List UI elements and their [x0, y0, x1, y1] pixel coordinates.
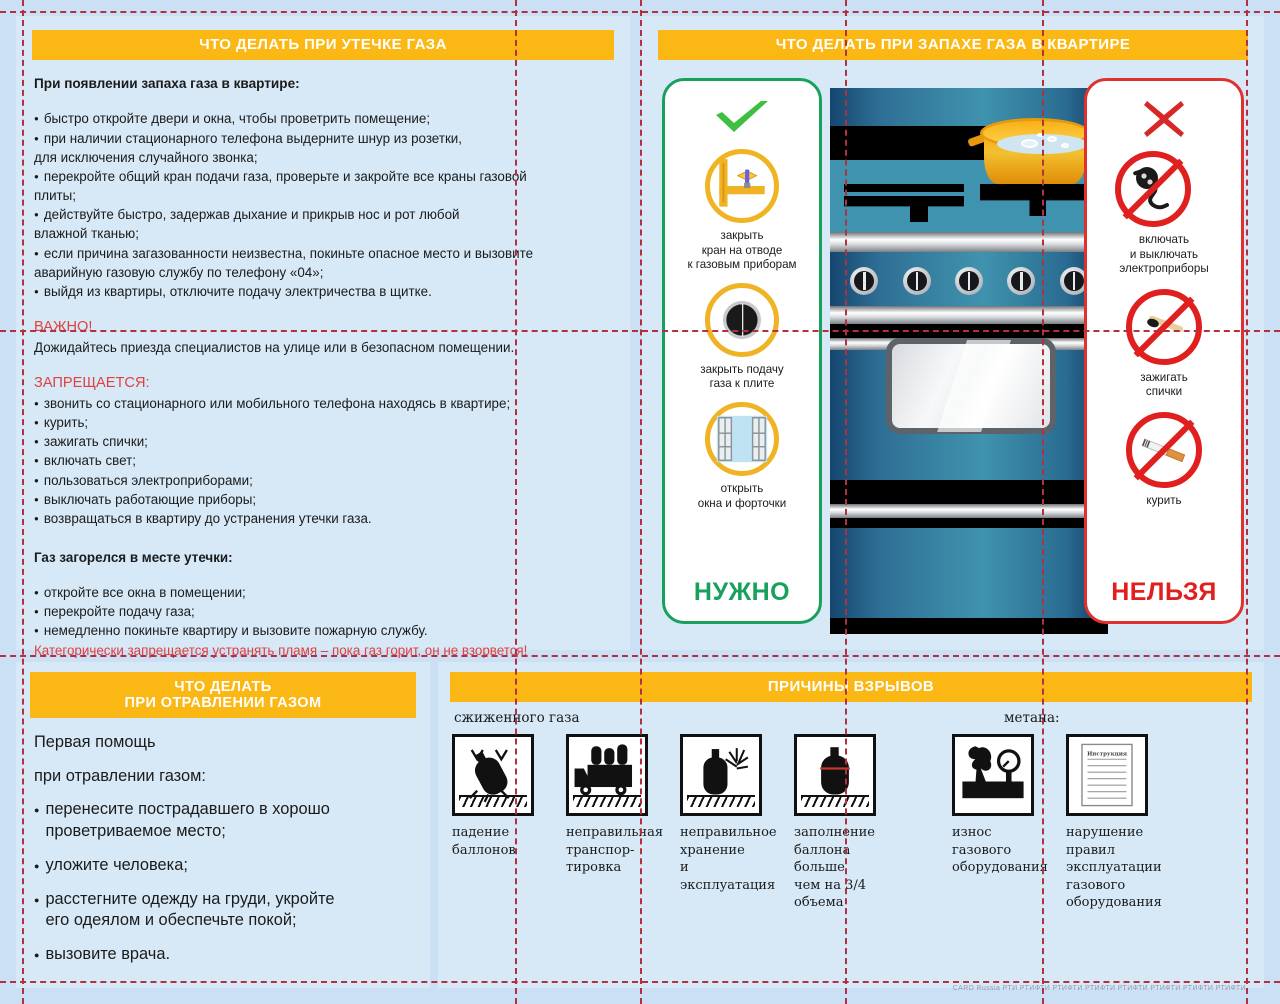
fire-item: откройте все окна в помещении;	[34, 583, 612, 602]
ground-hatch-icon	[573, 795, 641, 807]
stove-knob-row[interactable]	[830, 258, 1108, 304]
leak-step-cont: аварийную газовую службу по телефону «04…	[34, 263, 612, 282]
important-text: Дожидайтесь приезда специалистов на улиц…	[34, 338, 612, 357]
boiling-pot-icon	[976, 110, 1094, 186]
poison-item: ● вызовите врача.	[34, 944, 414, 966]
overfilled-cylinder-icon	[794, 734, 876, 816]
pot-rim	[980, 118, 1090, 148]
cause-list: падение баллонов	[452, 734, 1160, 912]
bullet-icon: ●	[34, 889, 39, 932]
cause-item: Инструкция нарушение правил эксплуатации…	[1066, 734, 1160, 912]
bubble-icon	[1047, 136, 1057, 142]
cause-item: износ газового оборудования	[952, 734, 1046, 912]
ground-hatch-icon	[801, 795, 869, 807]
falling-cylinder-icon	[452, 734, 534, 816]
svg-text:Инструкция: Инструкция	[1087, 752, 1127, 758]
panel-gas-leak: ЧТО ДЕЛАТЬ ПРИ УТЕЧКЕ ГАЗА При появлении…	[16, 16, 630, 650]
leak-step: действуйте быстро, задержав дыхание и пр…	[34, 205, 612, 224]
cause-caption: нарушение правил эксплуатации газового о…	[1066, 824, 1160, 912]
forbidden-item: курить;	[34, 413, 612, 432]
leak-step: выйдя из квартиры, отключите подачу элек…	[34, 282, 612, 301]
cross-mark-icon	[1142, 99, 1186, 139]
ground-hatch-icon	[459, 795, 527, 807]
cigarette-icon	[1126, 412, 1202, 488]
leak-step: быстро откройте двери и окна, чтобы пров…	[34, 109, 612, 128]
panel-gas-poisoning-body: Первая помощь при отравлении газом: ● пе…	[16, 718, 430, 966]
cylinder-sun-storage-icon	[680, 734, 762, 816]
cause-caption: падение баллонов	[452, 824, 546, 859]
pot-water	[997, 134, 1087, 154]
cause-caption: износ газового оборудования	[952, 824, 1046, 877]
panel-gas-leak-body: При появлении запаха газа в квартире: бы…	[16, 60, 630, 660]
dont-item-caption: зажигать спички	[1126, 371, 1202, 400]
stove-chrome-strip	[830, 306, 1108, 324]
dont-card: включать и выключать электроприборы	[1084, 78, 1244, 624]
stove-dark-band	[830, 518, 1108, 528]
fire-item: перекройте подачу газа;	[34, 602, 612, 621]
leak-step: при наличии стационарного телефона выдер…	[34, 129, 612, 148]
forbidden-item: зажигать спички;	[34, 432, 612, 451]
poison-item: ● расстегните одежду на груди, укройте е…	[34, 889, 414, 932]
do-item: закрыть кран на отводе к газовым прибора…	[683, 149, 800, 273]
electric-plug-icon	[1115, 151, 1191, 227]
do-item-caption: открыть окна и форточки	[694, 482, 790, 511]
check-mark-icon	[712, 99, 772, 137]
leak-step: перекройте общий кран подачи газа, прове…	[34, 167, 612, 186]
leak-step-cont: для исключения случайного звонка;	[34, 148, 612, 167]
cause-item: падение баллонов	[452, 734, 546, 912]
cause-item: неправильная транспор- тировка	[566, 734, 660, 912]
panel-explosion-causes-title: ПРИЧИНЫ ВЗРЫВОВ	[450, 672, 1252, 702]
stove-knob[interactable]	[1007, 267, 1035, 295]
group-label-methane: метана:	[1004, 710, 1060, 726]
dont-item-caption: включать и выключать электроприборы	[1115, 233, 1212, 277]
poison-title-line2: ПРИ ОТРАВЛЕНИИ ГАЗОМ	[125, 695, 322, 711]
gas-stove-illustration	[830, 88, 1108, 634]
fire-warning: Категорически запрещается устранять плам…	[34, 641, 612, 660]
leak-step-cont: плиты;	[34, 186, 612, 205]
stove-chrome-strip	[830, 232, 1108, 252]
dont-item-caption: курить	[1126, 494, 1202, 509]
poison-item: ● перенесите пострадавшего в хорошо пров…	[34, 799, 414, 842]
bullet-icon: ●	[34, 799, 39, 842]
do-item: открыть окна и форточки	[694, 402, 790, 511]
gas-valve-pipe-icon	[705, 149, 779, 223]
stove-chrome-strip	[830, 504, 1108, 518]
forbidden-item: выключать работающие приборы;	[34, 490, 612, 509]
leak-lead: При появлении запаха газа в квартире:	[34, 74, 612, 93]
poster-canvas: ЧТО ДЕЛАТЬ ПРИ УТЕЧКЕ ГАЗА При появлении…	[0, 0, 1280, 1004]
cause-item: неправильное хранение и эксплуатация	[680, 734, 774, 912]
poison-item-text: расстегните одежду на груди, укройте его…	[45, 889, 334, 932]
cause-item: заполнение баллона больше чем на 3/4 объ…	[794, 734, 888, 912]
bubble-icon	[1037, 133, 1044, 137]
truck-transport-icon	[566, 734, 648, 816]
do-card-verdict: НУЖНО	[665, 578, 819, 607]
stove-dark-band	[830, 480, 1108, 504]
pipe-leak-gauge-icon	[952, 734, 1034, 816]
poison-title-line1: ЧТО ДЕЛАТЬ	[125, 679, 322, 695]
bullet-icon: ●	[34, 944, 39, 966]
dont-item: зажигать спички	[1126, 289, 1202, 400]
important-heading: ВАЖНО!	[34, 317, 612, 338]
forbidden-item: звонить со стационарного или мобильного …	[34, 394, 612, 413]
poison-lead-line2: при отравлении газом:	[34, 766, 414, 788]
poison-lead-line1: Первая помощь	[34, 732, 414, 754]
stove-dark-band	[830, 324, 1108, 338]
poison-item: ● уложите человека;	[34, 855, 414, 877]
poison-item-text: перенесите пострадавшего в хорошо провет…	[45, 799, 329, 842]
watermark-text: CARD Russia РТИ РТИФТИ РТИФТИ РТИФТИ РТИ…	[953, 985, 1246, 992]
dont-item: включать и выключать электроприборы	[1115, 151, 1212, 277]
gas-tap-knob-icon	[705, 283, 779, 357]
group-label-lpg: сжиженного газа	[454, 710, 580, 726]
panel-gas-poisoning-title: ЧТО ДЕЛАТЬ ПРИ ОТРАВЛЕНИИ ГАЗОМ	[30, 672, 416, 718]
ground-hatch-icon	[687, 795, 755, 807]
fire-heading: Газ загорелся в месте утечки:	[34, 548, 612, 567]
fire-item: немедленно покиньте квартиру и вызовите …	[34, 621, 612, 640]
stove-base	[830, 618, 1108, 634]
forbidden-item: включать свет;	[34, 451, 612, 470]
dont-card-verdict: НЕЛЬЗЯ	[1087, 578, 1241, 607]
bullet-icon: ●	[34, 855, 39, 877]
stove-knob[interactable]	[903, 267, 931, 295]
do-item-caption: закрыть подачу газа к плите	[696, 363, 787, 392]
cause-caption: неправильное хранение и эксплуатация	[680, 824, 774, 894]
cause-caption: заполнение баллона больше чем на 3/4 объ…	[794, 824, 888, 912]
do-item: закрыть подачу газа к плите	[696, 283, 787, 392]
leak-step-cont: влажной тканью;	[34, 224, 612, 243]
poison-item-text: вызовите врача.	[45, 944, 170, 966]
open-window-icon	[705, 402, 779, 476]
crop-mark-horizontal	[0, 11, 1280, 13]
bubble-icon	[1061, 143, 1069, 148]
cause-caption: неправильная транспор- тировка	[566, 824, 660, 877]
forbidden-item: пользоваться электроприборами;	[34, 471, 612, 490]
panel-gas-leak-title: ЧТО ДЕЛАТЬ ПРИ УТЕЧКЕ ГАЗА	[32, 30, 614, 60]
dont-item: курить	[1126, 412, 1202, 509]
forbidden-item: возвращаться в квартиру до устранения ут…	[34, 509, 612, 528]
panel-gas-poisoning: ЧТО ДЕЛАТЬ ПРИ ОТРАВЛЕНИИ ГАЗОМ Первая п…	[16, 662, 430, 988]
panel-explosion-causes: ПРИЧИНЫ ВЗРЫВОВ сжиженного газа метана:	[438, 662, 1264, 988]
forbidden-heading: ЗАПРЕЩАЕТСЯ:	[34, 373, 612, 394]
poison-item-text: уложите человека;	[45, 855, 187, 877]
instruction-document-icon: Инструкция	[1066, 734, 1148, 816]
bubble-icon	[1021, 139, 1038, 148]
leak-step: если причина загазованности неизвестна, …	[34, 244, 612, 263]
oven-door-window	[886, 338, 1056, 434]
stove-scene: закрыть кран на отводе к газовым прибора…	[658, 78, 1248, 636]
do-item-caption: закрыть кран на отводе к газовым прибора…	[683, 229, 800, 273]
burner-grate	[844, 184, 964, 192]
stove-knob[interactable]	[850, 267, 878, 295]
panel-gas-smell-title: ЧТО ДЕЛАТЬ ПРИ ЗАПАХЕ ГАЗА В КВАРТИРЕ	[658, 30, 1248, 60]
match-icon	[1126, 289, 1202, 365]
stove-knob[interactable]	[955, 267, 983, 295]
panel-explosion-causes-body: сжиженного газа метана:	[438, 702, 1264, 712]
panel-gas-smell: ЧТО ДЕЛАТЬ ПРИ ЗАПАХЕ ГАЗА В КВАРТИРЕ	[642, 16, 1264, 650]
do-card: закрыть кран на отводе к газовым прибора…	[662, 78, 822, 624]
